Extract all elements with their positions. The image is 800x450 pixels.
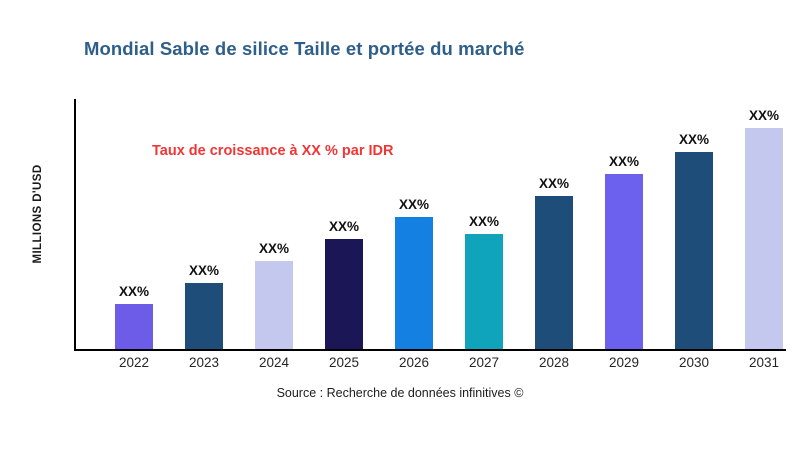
x-tick-2029: 2029 xyxy=(589,355,659,370)
bar-2029[interactable] xyxy=(605,174,643,349)
bar-value-label-2026: XX% xyxy=(379,197,449,212)
bar-value-label-2030: XX% xyxy=(659,132,729,147)
bar-2027[interactable] xyxy=(465,234,503,349)
x-tick-2027: 2027 xyxy=(449,355,519,370)
plot-area: Taux de croissance à XX % par IDR XX%XX%… xyxy=(74,99,786,351)
x-tick-2025: 2025 xyxy=(309,355,379,370)
bar-group: XX% xyxy=(449,99,519,349)
bar-group: XX% xyxy=(379,99,449,349)
bar-group: XX% xyxy=(589,99,659,349)
chart-canvas: Mondial Sable de silice Taille et portée… xyxy=(0,0,800,450)
x-tick-2031: 2031 xyxy=(729,355,799,370)
bar-value-label-2031: XX% xyxy=(729,108,799,123)
x-tick-2024: 2024 xyxy=(239,355,309,370)
bar-2025[interactable] xyxy=(325,239,363,349)
bar-value-label-2029: XX% xyxy=(589,154,659,169)
bar-value-label-2027: XX% xyxy=(449,214,519,229)
bar-group: XX% xyxy=(519,99,589,349)
source-caption: Source : Recherche de données infinitive… xyxy=(0,386,800,400)
page-title: Mondial Sable de silice Taille et portée… xyxy=(84,38,525,60)
x-tick-2026: 2026 xyxy=(379,355,449,370)
bar-value-label-2028: XX% xyxy=(519,176,589,191)
bar-value-label-2022: XX% xyxy=(99,284,169,299)
bar-2028[interactable] xyxy=(535,196,573,349)
bar-2022[interactable] xyxy=(115,304,153,349)
x-tick-2022: 2022 xyxy=(99,355,169,370)
x-tick-2028: 2028 xyxy=(519,355,589,370)
bar-group: XX% xyxy=(169,99,239,349)
bar-group: XX% xyxy=(309,99,379,349)
x-axis-line xyxy=(74,349,786,351)
bar-2031[interactable] xyxy=(745,128,783,349)
bar-group: XX% xyxy=(99,99,169,349)
bar-2030[interactable] xyxy=(675,152,713,349)
bar-2024[interactable] xyxy=(255,261,293,349)
bar-group: XX% xyxy=(729,99,799,349)
bar-2023[interactable] xyxy=(185,283,223,349)
y-axis-title: MILLIONS D'USD xyxy=(32,114,44,314)
bar-value-label-2023: XX% xyxy=(169,263,239,278)
bar-series: XX%XX%XX%XX%XX%XX%XX%XX%XX%XX% xyxy=(74,99,786,349)
x-tick-2030: 2030 xyxy=(659,355,729,370)
bar-group: XX% xyxy=(239,99,309,349)
bar-value-label-2025: XX% xyxy=(309,219,379,234)
bar-2026[interactable] xyxy=(395,217,433,349)
x-tick-2023: 2023 xyxy=(169,355,239,370)
x-axis-tick-labels: 2022202320242025202620272028202920302031 xyxy=(74,355,786,377)
bar-value-label-2024: XX% xyxy=(239,241,309,256)
bar-group: XX% xyxy=(659,99,729,349)
